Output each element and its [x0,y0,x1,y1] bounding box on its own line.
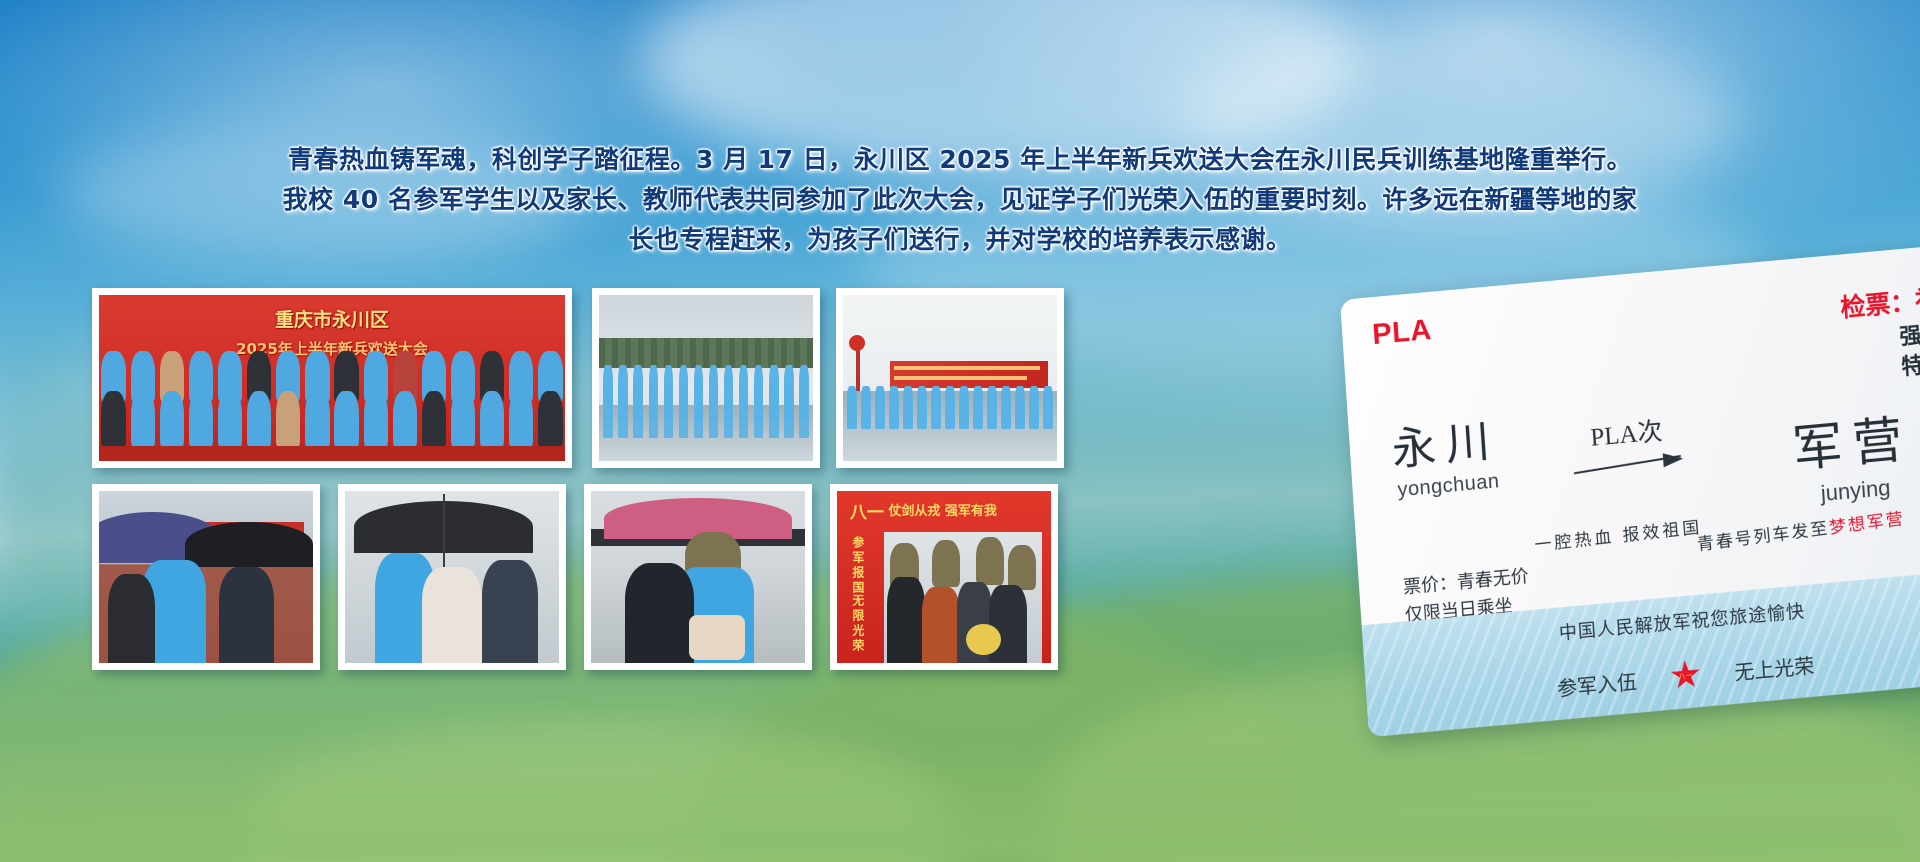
family-figure [482,560,538,663]
parent-figure [422,567,482,663]
photo-farewell-umbrella-2[interactable] [338,484,566,670]
ticket-origin-cn: 永川 [1390,404,1502,478]
photo-archway-group[interactable]: 八一 仗剑从戎 强军有我 参军报国 无限光荣 [830,484,1058,670]
intro-line-1: 青春热血铸军魂，科创学子踏征程。3 月 17 日，永川区 2025 年上半年新兵… [0,140,1920,180]
tree-line [599,338,813,368]
crowd-figures [99,351,565,461]
intro-paragraph: 青春热血铸军魂，科创学子踏征程。3 月 17 日，永川区 2025 年上半年新兵… [0,140,1920,260]
stage-banner-text-line [894,366,1040,370]
ticket-origin-station: 永川 yongchuan [1390,404,1503,503]
ticket-train-mark-group: PLA次 [1570,410,1683,476]
bayi-star-icon [1670,659,1702,692]
grass-decoration [0,742,1920,862]
arch-top-slogan: 仗剑从戎 强军有我 [888,500,997,519]
family-figure [219,567,275,663]
recruit-row [603,388,808,438]
photo-farewell-hug[interactable] [584,484,812,670]
photo-formation-rain[interactable] [592,288,820,468]
family-figure [625,563,693,663]
photo-ceremony-stage-wide[interactable] [836,288,1064,468]
stage-banner [890,361,1048,388]
recruit-row [847,386,1052,429]
pla-ticket[interactable]: PLA 检票：祖国 强军号 特等座 永川 yongchuan PLA次 军营 j… [1340,242,1920,769]
intro-line-2: 我校 40 名参军学生以及家长、教师代表共同参加了此次大会，见证学子们光荣入伍的… [0,180,1920,220]
umbrella-black [185,522,313,567]
arch-left-couplet-1: 参军报国 [850,536,867,596]
flower-basket [689,615,745,660]
ticket-train-number: 强军号 [1898,313,1920,351]
red-carpet [99,446,565,461]
intro-line-3: 长也专程赶来，为孩子们送行，并对学校的培养表示感谢。 [0,220,1920,260]
group-inside-arch [884,532,1042,663]
parent-figure [108,574,155,663]
ticket-destination-station: 军营 junying [1790,399,1916,510]
stage-banner-line1: 重庆市永川区 [99,305,565,332]
arch-badge: 八一 [850,498,889,526]
stage-banner-text-line [894,376,1027,380]
umbrella-shaft [443,494,445,566]
arch-left-couplet-2: 无限光荣 [850,594,867,654]
photo-collage: 重庆市永川区 2025年上半年新兵欢送大会 [92,288,1292,758]
ticket-seat-class: 特等座 [1900,343,1920,381]
ticket-destination-cn: 军营 [1790,399,1914,482]
photo-farewell-umbrella-1[interactable] [92,484,320,670]
ticket-brand-pla: PLA [1371,314,1432,352]
photo-group-photo-stage[interactable]: 重庆市永川区 2025年上半年新兵欢送大会 [92,288,572,468]
